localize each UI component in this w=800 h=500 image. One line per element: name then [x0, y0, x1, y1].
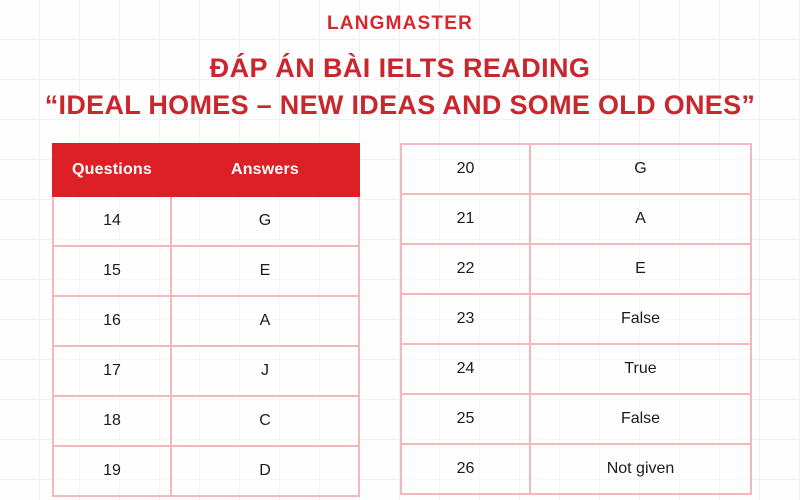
question-number: 18 [53, 396, 171, 446]
answer-value: D [171, 446, 359, 496]
question-number: 21 [401, 194, 530, 244]
answer-value: False [530, 294, 751, 344]
question-number: 19 [53, 446, 171, 496]
answer-value: Not given [530, 444, 751, 494]
answer-value: E [530, 244, 751, 294]
answer-value: G [171, 196, 359, 246]
answer-value: E [171, 246, 359, 296]
table-row: 20 G [401, 144, 751, 194]
question-number: 15 [53, 246, 171, 296]
answer-value: True [530, 344, 751, 394]
table-row: 14 G [53, 196, 359, 246]
question-number: 20 [401, 144, 530, 194]
table-row: 19 D [53, 446, 359, 496]
question-number: 22 [401, 244, 530, 294]
answers-table-right: 20 G 21 A 22 E 23 False 24 True 25 False [400, 143, 752, 495]
answers-table-left: Questions Answers 14 G 15 E 16 A 17 J 18… [52, 143, 360, 497]
page-title: ĐÁP ÁN BÀI IELTS READING “IDEAL HOMES – … [0, 52, 800, 121]
table-row: 24 True [401, 344, 751, 394]
question-number: 24 [401, 344, 530, 394]
page-background: LANGMASTER ĐÁP ÁN BÀI IELTS READING “IDE… [0, 0, 800, 500]
table-row: 18 C [53, 396, 359, 446]
title-line-secondary: “IDEAL HOMES – NEW IDEAS AND SOME OLD ON… [0, 89, 800, 121]
question-number: 14 [53, 196, 171, 246]
answer-value: A [171, 296, 359, 346]
answer-value: C [171, 396, 359, 446]
table-row: 15 E [53, 246, 359, 296]
question-number: 25 [401, 394, 530, 444]
table-row: 23 False [401, 294, 751, 344]
column-header-answers: Answers [171, 144, 359, 196]
question-number: 17 [53, 346, 171, 396]
answer-value: J [171, 346, 359, 396]
question-number: 23 [401, 294, 530, 344]
table-row: 25 False [401, 394, 751, 444]
table-row: 22 E [401, 244, 751, 294]
langmaster-logo: LANGMASTER [0, 13, 800, 35]
table-row: 26 Not given [401, 444, 751, 494]
column-header-questions: Questions [53, 144, 171, 196]
question-number: 16 [53, 296, 171, 346]
answer-value: False [530, 394, 751, 444]
title-line-primary: ĐÁP ÁN BÀI IELTS READING [0, 52, 800, 84]
answer-value: G [530, 144, 751, 194]
table-header-row: Questions Answers [53, 144, 359, 196]
question-number: 26 [401, 444, 530, 494]
answer-value: A [530, 194, 751, 244]
table-row: 16 A [53, 296, 359, 346]
table-row: 21 A [401, 194, 751, 244]
table-row: 17 J [53, 346, 359, 396]
